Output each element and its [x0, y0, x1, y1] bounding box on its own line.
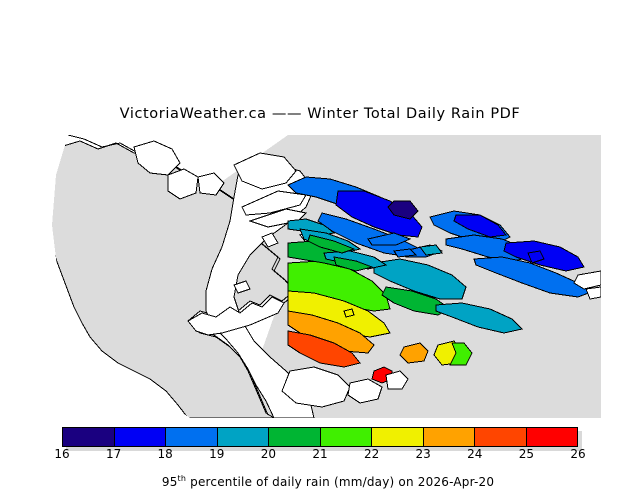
colorbar-segment-7[interactable] [424, 428, 476, 446]
colorbar-tick-23: 23 [416, 447, 431, 461]
islet-in-yellow-band [344, 309, 354, 317]
colorbar[interactable] [62, 427, 578, 447]
colorbar-segment-3[interactable] [218, 428, 270, 446]
colorbar-segment-9[interactable] [527, 428, 578, 446]
colorbar-tick-21: 21 [312, 447, 327, 461]
colorbar-tick-18: 18 [158, 447, 173, 461]
colorbar-segment-8[interactable] [475, 428, 527, 446]
colorbar-tick-25: 25 [519, 447, 534, 461]
caption-number: 95 [162, 475, 178, 489]
colorbar-segment-4[interactable] [269, 428, 321, 446]
colorbar-tick-17: 17 [106, 447, 121, 461]
colorbar-segment-1[interactable] [115, 428, 167, 446]
colorbar-tick-20: 20 [261, 447, 276, 461]
colorbar-tick-19: 19 [209, 447, 224, 461]
colorbar-segments[interactable] [62, 427, 578, 447]
colorbar-tick-24: 24 [467, 447, 482, 461]
colorbar-caption: 95th percentile of daily rain (mm/day) o… [0, 460, 640, 503]
colorbar-segment-2[interactable] [166, 428, 218, 446]
page-title: VictoriaWeather.ca —— Winter Total Daily… [0, 106, 640, 122]
weather-map-page: VictoriaWeather.ca —— Winter Total Daily… [0, 0, 640, 480]
colorbar-segment-0[interactable] [63, 428, 115, 446]
colorbar-tick-26: 26 [570, 447, 585, 461]
colorbar-segment-6[interactable] [372, 428, 424, 446]
map-canvas[interactable] [38, 135, 601, 418]
caption-text: percentile of daily rain (mm/day) on 202… [186, 475, 494, 489]
colorbar-segment-5[interactable] [321, 428, 373, 446]
map-svg [38, 135, 601, 418]
colorbar-tick-16: 16 [54, 447, 69, 461]
caption-ordinal-suffix: th [178, 474, 187, 483]
colorbar-tick-22: 22 [364, 447, 379, 461]
